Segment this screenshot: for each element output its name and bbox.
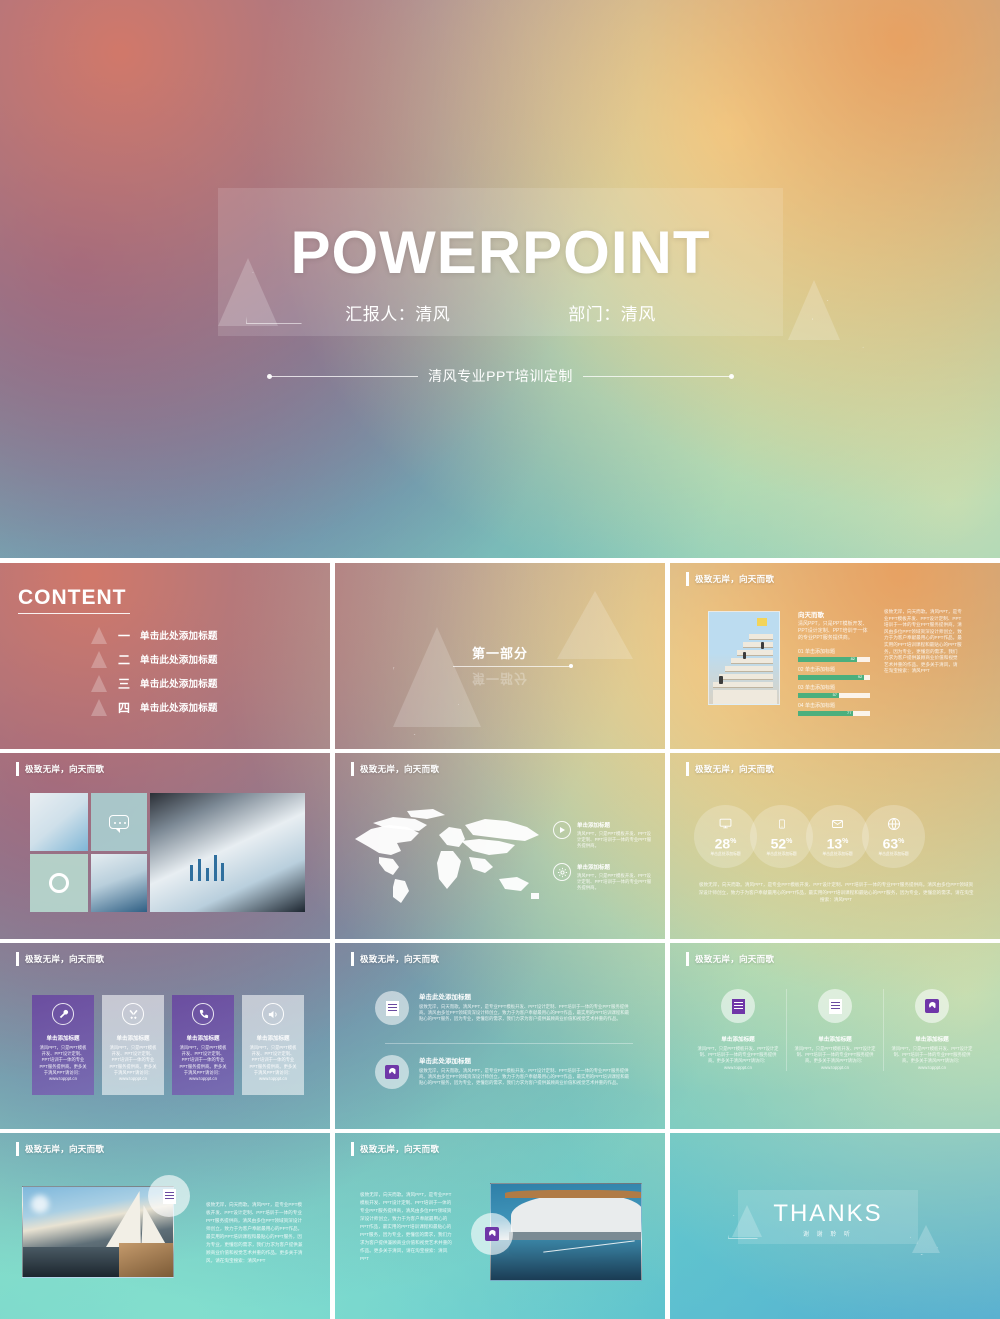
- hero-department: 部门：清风: [568, 300, 656, 325]
- monitor-icon: [718, 816, 733, 832]
- list-item-number: 一: [116, 627, 132, 644]
- map-item-body: 清风PPT，只是PPT模板开发、PPT设计定制、PPT培训于一体的专业PPT服务…: [577, 831, 655, 850]
- slide-header-text: 极致无岸，向天而歌: [360, 953, 439, 965]
- hero-subtitle: 清风专业PPT培训定制: [428, 366, 573, 386]
- triangle-icon: [88, 673, 108, 693]
- row-body: 极致无岸，向天而歌。清风PPT，是专业PPT模板开发、PPT设计定制、PPT培训…: [419, 1068, 633, 1087]
- column-body: 清风PPT，只是PPT模板开发、PPT设计定制、PPT培训于一体的专业PPT服务…: [696, 1046, 780, 1071]
- collage-tint-ring: [30, 854, 88, 912]
- row-body: 极致无岸，向天而歌。清风PPT，是专业PPT模板开发、PPT设计定制、PPT培训…: [419, 1004, 633, 1023]
- stat-value-wrap: 52%: [771, 835, 793, 851]
- document-white-icon: [818, 989, 852, 1023]
- pie-icon: [375, 1055, 409, 1089]
- document-icon: [375, 991, 409, 1025]
- progress-value: 82: [851, 656, 857, 661]
- section-rule: [453, 666, 571, 667]
- list-item[interactable]: 三 单击此处添加标题: [88, 671, 318, 695]
- slide-header: 极致无岸，向天而歌: [16, 762, 104, 776]
- slide-header: 极致无岸，向天而歌: [16, 1142, 104, 1156]
- card-title: 单击添加标题: [186, 1034, 219, 1042]
- sail-body: 极致无岸，向天而歌。清风PPT，是专业PPT模板开发、PPT设计定制、PPT培训…: [206, 1201, 306, 1265]
- progress-fill: 77: [798, 711, 853, 716]
- list-item-label: 单击此处添加标题: [140, 628, 218, 642]
- stairs-photo: [708, 611, 780, 705]
- phone-icon: [192, 1003, 214, 1025]
- columns-row: 单击添加标题 清风PPT，只是PPT模板开发、PPT设计定制、PPT培训于一体的…: [690, 989, 980, 1071]
- header-accent-bar: [351, 762, 354, 776]
- feature-card[interactable]: 单击添加标题 清风PPT，只是PPT模板开发、PPT设计定制、PPT培训于一体的…: [102, 995, 164, 1095]
- map-items: 单击添加标题 清风PPT，只是PPT模板开发、PPT设计定制、PPT培训于一体的…: [553, 821, 655, 905]
- document-icon: [163, 1189, 176, 1204]
- section-title: 第一部分: [335, 643, 665, 662]
- map-item[interactable]: 单击添加标题 清风PPT，只是PPT模板开发、PPT设计定制、PPT培训于一体的…: [553, 821, 655, 849]
- column-item[interactable]: 单击添加标题 清风PPT，只是PPT模板开发、PPT设计定制、PPT培训于一体的…: [690, 989, 786, 1071]
- slide-section-divider[interactable]: 第一部分 第一部分: [335, 563, 665, 749]
- play-circle-icon: [553, 821, 571, 839]
- thanks-subtitle: 谢 谢 聆 听: [738, 1229, 918, 1238]
- slide-photo-collage[interactable]: 极致无岸，向天而歌: [0, 753, 330, 939]
- list-row[interactable]: 单击此处添加标题 极致无岸，向天而歌。清风PPT，是专业PPT模板开发、PPT设…: [375, 1055, 633, 1089]
- collage-photo: [91, 854, 147, 912]
- progress-row: 02 单击添加标题 92: [798, 666, 870, 680]
- heading-underline: [18, 613, 130, 614]
- slide-header: 极致无岸，向天而歌: [686, 572, 774, 586]
- progress-row: 01 单击添加标题 82: [798, 648, 870, 662]
- hero-meta: 汇报人：清风 部门：清风: [218, 300, 783, 325]
- header-accent-bar: [686, 762, 689, 776]
- header-accent-bar: [686, 952, 689, 966]
- stairs-body: 清风PPT，只是PPT模板开发、PPT设计定制、PPT培训于一体的专业PPT服务…: [798, 621, 870, 642]
- triangle-icon: [88, 625, 108, 645]
- stat-circle[interactable]: 52% 单击此处添加标题: [750, 805, 813, 868]
- list-item-number: 四: [116, 699, 132, 716]
- slide-header-text: 极致无岸，向天而歌: [25, 953, 104, 965]
- list-item[interactable]: 二 单击此处添加标题: [88, 647, 318, 671]
- envelope-icon: [830, 816, 845, 832]
- row-title: 单击此处添加标题: [419, 1055, 633, 1065]
- column-title: 单击添加标题: [915, 1035, 949, 1043]
- slide-header-text: 极致无岸，向天而歌: [360, 763, 439, 775]
- stat-value: 63: [883, 835, 899, 851]
- slide-header: 极致无岸，向天而歌: [16, 952, 104, 966]
- map-item-title: 单击添加标题: [577, 821, 655, 829]
- stat-value: 28: [715, 835, 731, 851]
- column-item[interactable]: 单击添加标题 清风PPT，只是PPT模板开发、PPT设计定制、PPT培训于一体的…: [786, 989, 883, 1071]
- slide-stats-circles[interactable]: 极致无岸，向天而歌 28% 单击此处添加标题 52% 单击此处: [670, 753, 1000, 939]
- list-item-label: 单击此处添加标题: [140, 676, 218, 690]
- progress-value: 92: [858, 674, 864, 679]
- list-row[interactable]: 单击此处添加标题 极致无岸，向天而歌。清风PPT，是专业PPT模板开发、PPT设…: [375, 991, 633, 1025]
- card-title: 单击添加标题: [256, 1034, 289, 1042]
- stat-value-wrap: 63%: [883, 835, 905, 851]
- list-item-number: 三: [116, 675, 132, 692]
- slide-header-text: 极致无岸，向天而歌: [25, 763, 104, 775]
- progress-value: 57: [833, 692, 839, 697]
- stats-footer: 极致无岸，向天而歌。清风PPT，是专业PPT模板开发、PPT设计定制、PPT培训…: [698, 881, 974, 904]
- progress-label: 03 单击添加标题: [798, 684, 870, 691]
- slide-sail-photo[interactable]: 极致无岸，向天而歌 极致无岸，向天而歌。清风PPT，是专业PPT模板开发、PPT…: [0, 1133, 330, 1319]
- badge[interactable]: [148, 1175, 190, 1217]
- stairs-detail-column: 向天而歌 清风PPT，只是PPT模板开发、PPT设计定制、PPT培训于一体的专业…: [798, 609, 870, 720]
- collage-main-photo: [150, 793, 305, 912]
- chat-bubble-icon: [109, 815, 129, 829]
- header-accent-bar: [16, 952, 19, 966]
- progress-track: 82: [798, 657, 870, 662]
- stat-unit: %: [730, 838, 736, 845]
- pie-purple-icon: [915, 989, 949, 1023]
- slide-header: 极致无岸，向天而歌: [686, 952, 774, 966]
- header-accent-bar: [16, 1142, 19, 1156]
- slide-feature-cards[interactable]: 极致无岸，向天而歌 单击添加标题 清风PPT，只是PPT模板开发、PPT设计定制…: [0, 943, 330, 1129]
- collage-small-grid: [30, 793, 147, 912]
- speaker-icon: [262, 1003, 284, 1025]
- tablet-icon: [777, 816, 787, 832]
- slide-boat-photo[interactable]: 极致无岸，向天而歌 极致无岸，向天而歌。清风PPT，是专业PPT模板开发、PPT…: [335, 1133, 665, 1319]
- stat-label: 单击此处添加标题: [766, 852, 796, 857]
- tools-icon: [122, 1003, 144, 1025]
- list-item-number: 二: [116, 651, 132, 668]
- header-accent-bar: [351, 952, 354, 966]
- section-title-reflection: 第一部分: [335, 670, 665, 689]
- stat-circle[interactable]: 13% 单击此处添加标题: [806, 805, 869, 868]
- globe-icon: [887, 816, 901, 832]
- content-list: 一 单击此处添加标题 二 单击此处添加标题 三 单击此处添加标题 四 单击此处添…: [88, 623, 318, 719]
- gear-icon: [553, 863, 571, 881]
- stat-value: 13: [827, 835, 843, 851]
- progress-fill: 57: [798, 693, 839, 698]
- feature-card[interactable]: 单击添加标题 清风PPT，只是PPT模板开发、PPT设计定制、PPT培训于一体的…: [242, 995, 304, 1095]
- column-title: 单击添加标题: [818, 1035, 852, 1043]
- badge[interactable]: [471, 1213, 513, 1255]
- stats-row: 28% 单击此处添加标题 52% 单击此处添加标题 13%: [694, 805, 918, 868]
- stat-unit: %: [842, 838, 848, 845]
- list-item[interactable]: 一 单击此处添加标题: [88, 623, 318, 647]
- stat-label: 单击此处添加标题: [710, 852, 740, 857]
- list-item[interactable]: 四 单击此处添加标题: [88, 695, 318, 719]
- card-body: 清风PPT，只是PPT模板开发、PPT设计定制、PPT培训于一体的专业PPT服务…: [109, 1045, 157, 1082]
- progress-track: 92: [798, 675, 870, 680]
- map-item[interactable]: 单击添加标题 清风PPT，只是PPT模板开发、PPT设计定制、PPT培训于一体的…: [553, 863, 655, 891]
- collage-tint-bubble: [91, 793, 147, 851]
- row-title: 单击此处添加标题: [419, 991, 633, 1001]
- rule-left: [268, 376, 418, 377]
- stat-label: 单击此处添加标题: [822, 852, 852, 857]
- progress-row: 03 单击添加标题 57: [798, 684, 870, 698]
- card-body: 清风PPT，只是PPT模板开发、PPT设计定制、PPT培训于一体的专业PPT服务…: [179, 1045, 227, 1082]
- card-title: 单击添加标题: [46, 1034, 79, 1042]
- divider: [385, 1043, 633, 1044]
- header-accent-bar: [686, 572, 689, 586]
- slide-header-text: 极致无岸，向天而歌: [695, 763, 774, 775]
- column-item[interactable]: 单击添加标题 清风PPT，只是PPT模板开发、PPT设计定制、PPT培训于一体的…: [883, 989, 980, 1071]
- progress-track: 77: [798, 711, 870, 716]
- triangle-icon: [88, 697, 108, 717]
- card-body: 清风PPT，只是PPT模板开发、PPT设计定制、PPT培训于一体的专业PPT服务…: [249, 1045, 297, 1082]
- slide-thanks[interactable]: THANKS 谢 谢 聆 听: [670, 1133, 1000, 1319]
- progress-value: 77: [847, 710, 853, 715]
- slide-header: 极致无岸，向天而歌: [351, 952, 439, 966]
- list-item-label: 单击此处添加标题: [140, 652, 218, 666]
- stat-circle[interactable]: 28% 单击此处添加标题: [694, 805, 757, 868]
- rule-right: [583, 376, 733, 377]
- ring-icon: [49, 873, 69, 893]
- stat-value: 52: [771, 835, 787, 851]
- wrench-icon: [52, 1003, 74, 1025]
- ppt-template-preview: POWERPOINT 汇报人：清风 部门：清风 清风专业PPT培训定制 CONT…: [0, 0, 1000, 1315]
- pie-icon: [485, 1227, 499, 1241]
- slide-content[interactable]: CONTENT 一 单击此处添加标题 二 单击此处添加标题 三 单击此处添加标题…: [0, 563, 330, 749]
- map-item-title: 单击添加标题: [577, 863, 655, 871]
- slide-header-text: 极致无岸，向天而歌: [695, 573, 774, 585]
- slide-background: [335, 943, 665, 1129]
- content-heading: CONTENT: [18, 586, 127, 610]
- hero-presenter: 汇报人：清风: [345, 300, 450, 325]
- column-title: 单击添加标题: [721, 1035, 755, 1043]
- slide-three-columns[interactable]: 极致无岸，向天而歌 单击添加标题 清风PPT，只是PPT模板开发、PPT设计定制…: [670, 943, 1000, 1129]
- feature-card[interactable]: 单击添加标题 清风PPT，只是PPT模板开发、PPT设计定制、PPT培训于一体的…: [172, 995, 234, 1095]
- boat-body: 极致无岸，向天而歌。清风PPT，是专业PPT模板开发、PPT设计定制、PPT培训…: [360, 1191, 452, 1263]
- slide-header: 极致无岸，向天而歌: [351, 762, 439, 776]
- slide-header: 极致无岸，向天而歌: [351, 1142, 439, 1156]
- map-item-body: 清风PPT，只是PPT模板开发、PPT设计定制、PPT培训于一体的专业PPT服务…: [577, 873, 655, 892]
- feature-card[interactable]: 单击添加标题 清风PPT，只是PPT模板开发、PPT设计定制、PPT培训于一体的…: [32, 995, 94, 1095]
- progress-row: 04 单击添加标题 77: [798, 702, 870, 716]
- triangle-icon: [88, 649, 108, 669]
- slide-stairs-progress[interactable]: 极致无岸，向天而歌 向天而歌 清风PPT，只是PPT模板开发、PPT设计定制、P…: [670, 563, 1000, 749]
- stat-label: 单击此处添加标题: [878, 852, 908, 857]
- header-accent-bar: [351, 1142, 354, 1156]
- slide-header-text: 极致无岸，向天而歌: [360, 1143, 439, 1155]
- progress-label: 02 单击添加标题: [798, 666, 870, 673]
- world-map: [349, 805, 549, 913]
- slide-two-row-list[interactable]: 极致无岸，向天而歌 单击此处添加标题 极致无岸，向天而歌。清风PPT，是专业PP…: [335, 943, 665, 1129]
- hero-subtitle-row: 清风专业PPT培训定制: [218, 366, 783, 386]
- card-body: 清风PPT，只是PPT模板开发、PPT设计定制、PPT培训于一体的专业PPT服务…: [39, 1045, 87, 1082]
- slide-world-map[interactable]: 极致无岸，向天而歌: [335, 753, 665, 939]
- stat-value-wrap: 28%: [715, 835, 737, 851]
- collage-photo: [30, 793, 88, 851]
- progress-fill: 82: [798, 657, 857, 662]
- progress-track: 57: [798, 693, 870, 698]
- stat-value-wrap: 13%: [827, 835, 849, 851]
- stat-unit: %: [786, 838, 792, 845]
- progress-label: 01 单击添加标题: [798, 648, 870, 655]
- cards-row: 单击添加标题 清风PPT，只是PPT模板开发、PPT设计定制、PPT培训于一体的…: [32, 995, 304, 1095]
- stairs-heading: 向天而歌: [798, 609, 870, 619]
- card-title: 单击添加标题: [116, 1034, 149, 1042]
- progress-label: 04 单击添加标题: [798, 702, 870, 709]
- document-purple-icon: [721, 989, 755, 1023]
- stat-circle[interactable]: 63% 单击此处添加标题: [862, 805, 925, 868]
- slide-header-text: 极致无岸，向天而歌: [695, 953, 774, 965]
- hero-title: POWERPOINT: [218, 222, 783, 284]
- stat-unit: %: [898, 838, 904, 845]
- list-item-label: 单击此处添加标题: [140, 700, 218, 714]
- column-body: 清风PPT，只是PPT模板开发、PPT设计定制、PPT培训于一体的专业PPT服务…: [890, 1046, 974, 1071]
- slide-title[interactable]: POWERPOINT 汇报人：清风 部门：清风 清风专业PPT培训定制: [0, 0, 1000, 558]
- column-body: 清风PPT，只是PPT模板开发、PPT设计定制、PPT培训于一体的专业PPT服务…: [793, 1046, 877, 1071]
- stairs-side-text: 极致无岸，向天而歌。清风PPT，是专业PPT模板开发、PPT设计定制、PPT培训…: [884, 609, 962, 675]
- thanks-title: THANKS: [738, 1200, 918, 1228]
- collage: [30, 793, 305, 912]
- header-accent-bar: [16, 762, 19, 776]
- slide-header: 极致无岸，向天而歌: [686, 762, 774, 776]
- progress-fill: 92: [798, 675, 864, 680]
- slide-header-text: 极致无岸，向天而歌: [25, 1143, 104, 1155]
